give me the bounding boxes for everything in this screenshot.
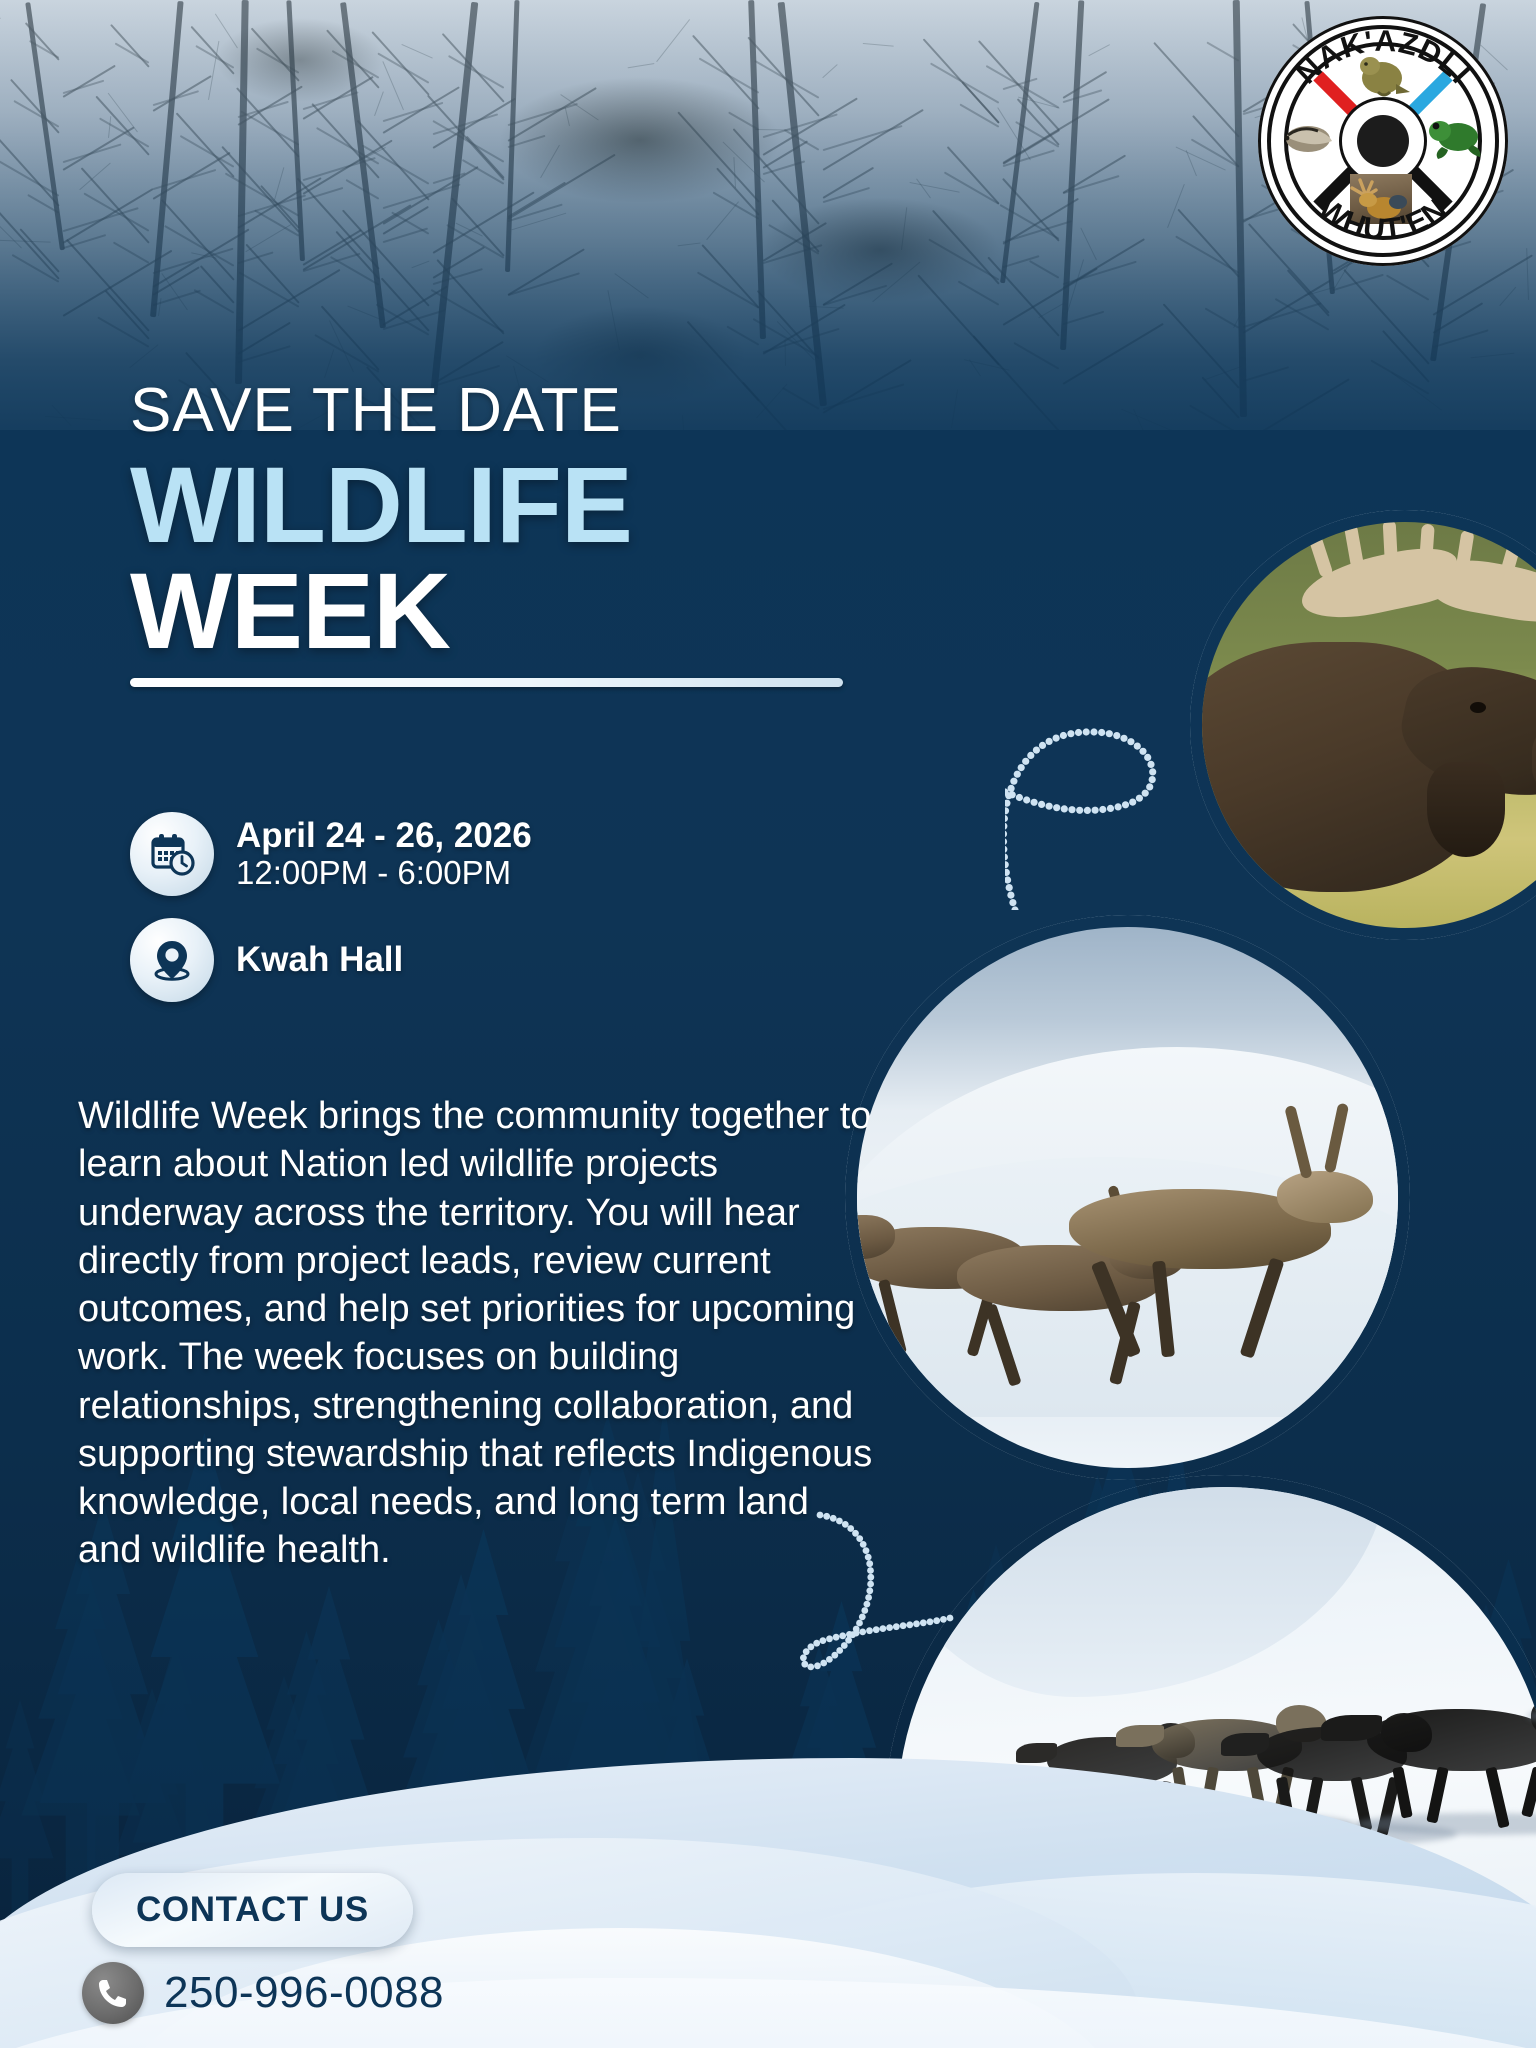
logo-top-text: NAK'AZDLI — [1290, 25, 1476, 91]
event-details: April 24 - 26, 2026 12:00PM - 6:00PM Kwa… — [130, 812, 890, 1024]
phone-icon — [82, 1962, 144, 2024]
detail-row-location: Kwah Hall — [130, 918, 890, 1002]
detail-row-date: April 24 - 26, 2026 12:00PM - 6:00PM — [130, 812, 890, 896]
dotted-loop-decor-top — [1005, 660, 1215, 910]
title-line-week: WEEK — [130, 558, 890, 664]
headline-block: SAVE THE DATE WILDLIFE WEEK — [130, 380, 890, 687]
logo-bottom-text: WHUT'EN — [1312, 192, 1453, 247]
phone-row[interactable]: 250-996-0088 — [82, 1962, 444, 2024]
event-description: Wildlife Week brings the community toget… — [78, 1092, 878, 1575]
calendar-clock-icon — [130, 812, 214, 896]
map-pin-icon — [130, 918, 214, 1002]
contact-us-button[interactable]: CONTACT US — [92, 1873, 413, 1947]
eyebrow-save-the-date: SAVE THE DATE — [130, 380, 890, 442]
phone-number[interactable]: 250-996-0088 — [164, 1968, 444, 2018]
title-underline-rule — [130, 678, 843, 687]
photo-circle-moose — [1190, 510, 1536, 940]
photo-circle-caribou — [845, 915, 1410, 1480]
title-line-wildlife: WILDLIFE — [130, 452, 890, 558]
event-location: Kwah Hall — [236, 940, 403, 979]
svg-text:NAK'AZDLI: NAK'AZDLI — [1290, 25, 1476, 91]
event-date: April 24 - 26, 2026 — [236, 816, 532, 855]
nakazdli-whuten-logo: NAK'AZDLI WHUT'EN — [1258, 16, 1508, 266]
poster-root: NAK'AZDLI WHUT'EN SAVE THE DATE WILDLIFE… — [0, 0, 1536, 2048]
logo-arc-text: NAK'AZDLI WHUT'EN — [1258, 16, 1508, 266]
svg-text:WHUT'EN: WHUT'EN — [1312, 192, 1453, 247]
event-time: 12:00PM - 6:00PM — [236, 855, 532, 892]
